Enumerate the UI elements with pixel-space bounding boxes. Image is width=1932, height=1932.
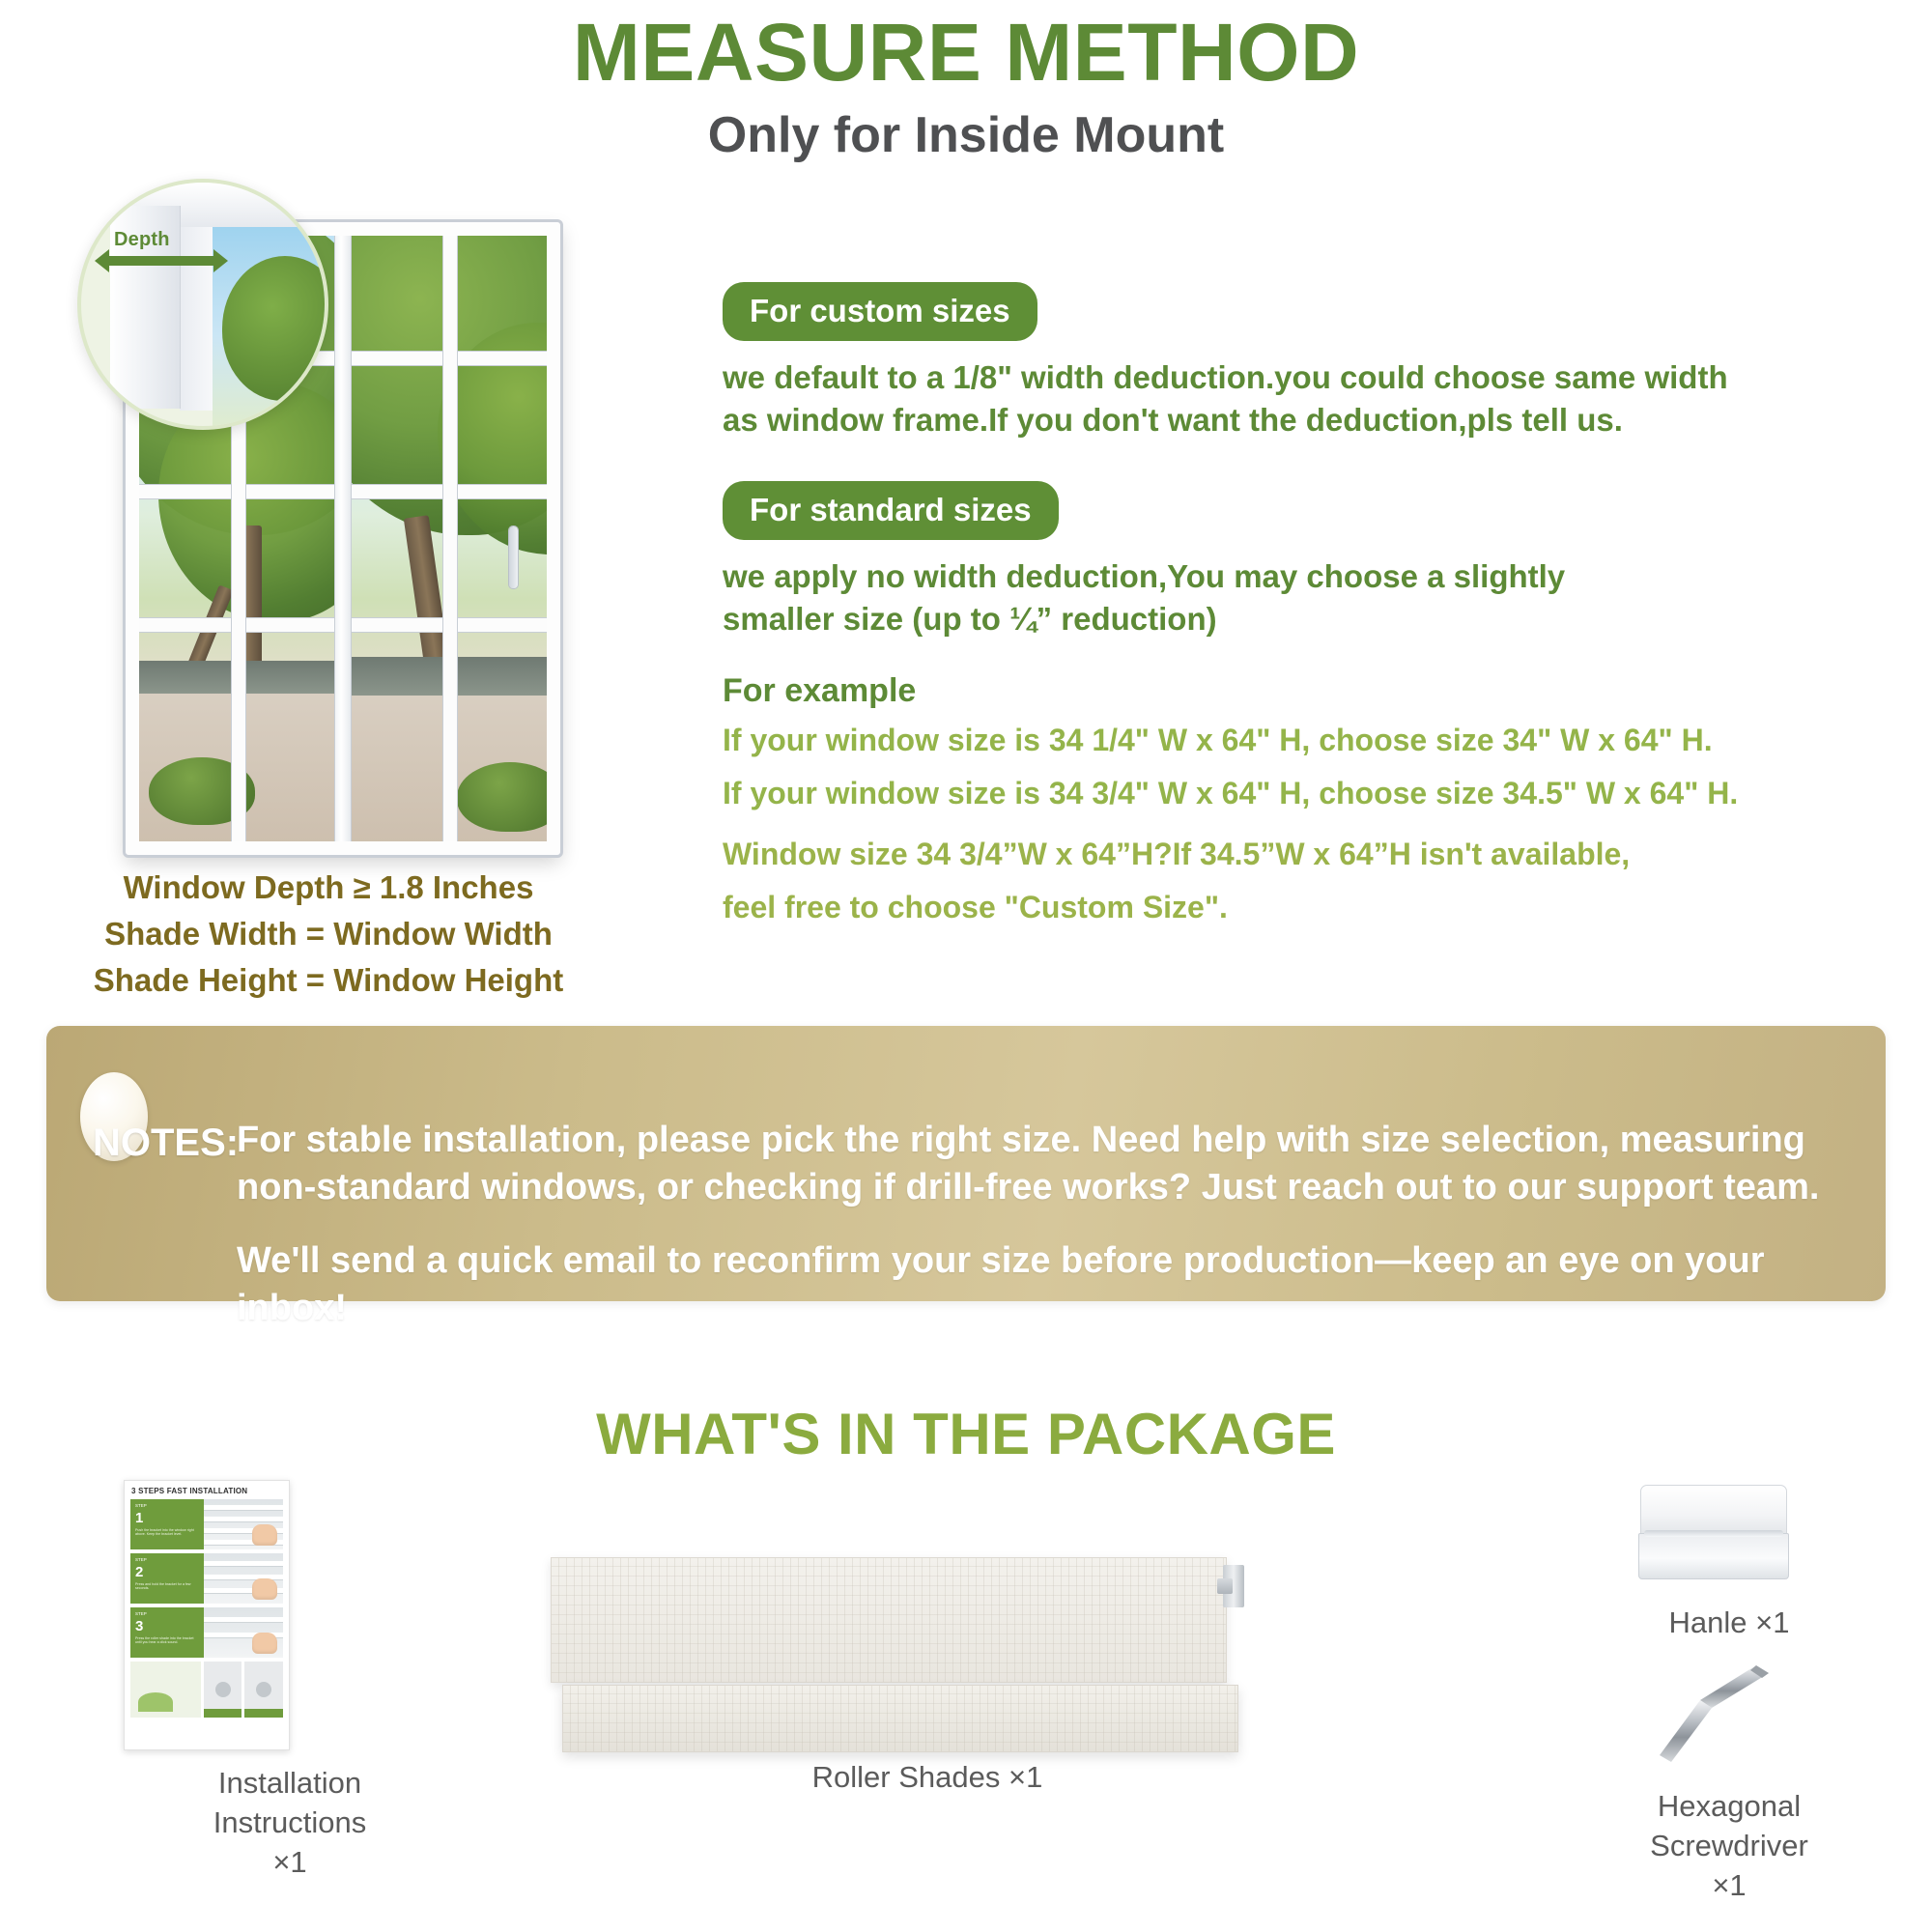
package-item-caption-roller-shades: Roller Shades ×1 [618, 1758, 1236, 1798]
example-line-1: If your window size is 34 1/4" W x 64" H… [723, 719, 1872, 762]
notes-panel: NOTES: For stable installation, please p… [46, 1026, 1886, 1301]
custom-sizes-line-2: as window frame.If you don't want the de… [723, 399, 1872, 441]
install-step-left: STEP 1 Push the bracket into the window … [130, 1499, 204, 1549]
caption-shade-width: Shade Width = Window Width [58, 911, 599, 957]
window-center-stile [335, 236, 352, 841]
window-captions: Window Depth ≥ 1.8 Inches Shade Width = … [58, 865, 599, 1004]
depth-arrow-icon [108, 256, 214, 266]
standard-sizes-pill: For standard sizes [723, 481, 1059, 540]
tip-image-2 [244, 1662, 283, 1718]
caption-shade-height: Shade Height = Window Height [58, 957, 599, 1004]
example-line-3: Window size 34 3/4”W x 64”H?If 34.5”W x … [723, 833, 1872, 876]
standard-sizes-text: we apply no width deduction,You may choo… [723, 555, 1872, 639]
install-step-text: Push the bracket into the window right a… [135, 1528, 200, 1537]
caption-window-depth: Window Depth ≥ 1.8 Inches [58, 865, 599, 911]
install-step-left: STEP 3 Press the roller shade into the b… [130, 1607, 204, 1658]
package-item-caption-screwdriver: Hexagonal Screwdriver ×1 [1555, 1787, 1903, 1906]
roller-shade-body [551, 1557, 1227, 1683]
hand-icon [252, 1524, 277, 1546]
custom-sizes-line-1: we default to a 1/8" width deduction.you… [723, 356, 1872, 399]
example-line-4: feel free to choose "Custom Size". [723, 886, 1872, 929]
installation-instructions-image: 3 STEPS FAST INSTALLATION STEP 1 Push th… [124, 1480, 290, 1750]
install-step-left: STEP 2 Press and hold the bracket for a … [130, 1553, 204, 1604]
roller-shade-bottom-rail [562, 1685, 1238, 1752]
handle-groove [1644, 1530, 1783, 1537]
install-sheet-tips [130, 1662, 283, 1718]
package-item-caption-handle: Hanle ×1 [1584, 1604, 1874, 1643]
caption-line-1: Installation [145, 1764, 435, 1804]
page-subtitle: Only for Inside Mount [0, 108, 1932, 163]
standard-sizes-line-1: we apply no width deduction,You may choo… [723, 555, 1872, 598]
standard-sizes-line-2: smaller size (up to ¼” reduction) [723, 598, 1872, 640]
handle-top-part [1640, 1485, 1787, 1535]
install-step-number: 3 [135, 1619, 200, 1634]
notes-paragraph-2: We'll send a quick email to reconfirm yo… [237, 1237, 1845, 1333]
install-step-word: STEP [135, 1557, 147, 1562]
install-step-number: 1 [135, 1511, 200, 1525]
sizing-info-column: For custom sizes we default to a 1/8" wi… [723, 282, 1872, 929]
depth-callout-bubble: Depth [77, 179, 328, 430]
hand-icon [252, 1633, 277, 1654]
install-step-row: STEP 1 Push the bracket into the window … [130, 1499, 283, 1549]
install-step-text: Press the roller shade into the bracket … [135, 1636, 200, 1645]
page-header: MEASURE METHOD Only for Inside Mount [0, 0, 1932, 163]
roller-shade-bracket [1217, 1578, 1233, 1594]
custom-sizes-pill: For custom sizes [723, 282, 1037, 341]
handle-bottom-part [1638, 1533, 1789, 1579]
install-step-illustration [204, 1607, 283, 1658]
install-step-row: STEP 2 Press and hold the bracket for a … [130, 1553, 283, 1604]
handle-image [1638, 1485, 1789, 1579]
tip-green-block [130, 1662, 201, 1718]
hand-icon [252, 1578, 277, 1600]
notes-paragraph-1: For stable installation, please pick the… [237, 1117, 1845, 1212]
caption-line-3: ×1 [1555, 1866, 1903, 1906]
depth-label: Depth [114, 229, 170, 251]
window-sash-handle-icon [509, 526, 518, 588]
roller-shade-image [551, 1557, 1296, 1760]
caption-line-2: Instructions [145, 1804, 435, 1843]
caption-line-1: Hexagonal [1555, 1787, 1903, 1827]
tip-image-1 [204, 1662, 242, 1718]
bubble-inner-jamb [180, 227, 213, 411]
caption-line-3: ×1 [145, 1843, 435, 1883]
install-sheet-title: 3 STEPS FAST INSTALLATION [125, 1481, 289, 1499]
notes-label: NOTES: [93, 1122, 239, 1165]
install-step-word: STEP [135, 1503, 147, 1508]
package-item-caption-instructions: Installation Instructions ×1 [145, 1764, 435, 1883]
page-title: MEASURE METHOD [0, 10, 1932, 95]
bubble-sky [213, 227, 325, 426]
caption-line-2: Screwdriver [1555, 1827, 1903, 1866]
install-step-illustration [204, 1499, 283, 1549]
install-step-word: STEP [135, 1611, 147, 1616]
custom-sizes-text: we default to a 1/8" width deduction.you… [723, 356, 1872, 440]
install-step-row: STEP 3 Press the roller shade into the b… [130, 1607, 283, 1658]
bubble-tree [222, 256, 328, 401]
install-step-number: 2 [135, 1565, 200, 1579]
package-section-title: WHAT'S IN THE PACKAGE [0, 1401, 1932, 1467]
example-line-2: If your window size is 34 3/4" W x 64" H… [723, 772, 1872, 815]
install-step-text: Press and hold the bracket for a few sec… [135, 1582, 200, 1591]
example-heading: For example [723, 672, 1872, 710]
hexagonal-screwdriver-icon [1642, 1658, 1806, 1774]
install-step-illustration [204, 1553, 283, 1604]
notes-body: For stable installation, please pick the… [237, 1117, 1845, 1333]
